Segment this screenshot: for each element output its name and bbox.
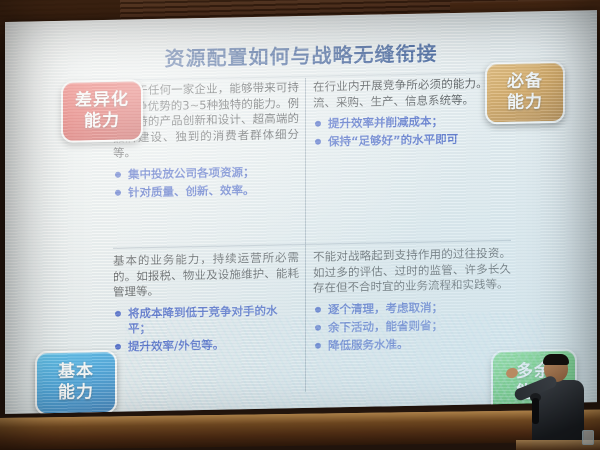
presenter	[516, 352, 600, 450]
water-glass	[582, 430, 594, 445]
badge-essential-capability: 必备 能力	[485, 61, 565, 125]
quadrant-bullet-list: 将成本降到低于竞争对手的水平； 提升效率/外包等。	[113, 303, 299, 355]
bullet-text: 提升效率/外包等。	[128, 337, 224, 353]
bullet-dot-icon	[315, 324, 321, 330]
bullet-text: 针对质量、创新、效率。	[128, 182, 255, 199]
list-item: 降低服务水准。	[313, 334, 511, 353]
bullet-text: 余下活动，能省则省；	[328, 318, 443, 334]
quadrant-bullet-list: 提升效率并削减成本； 保持“足够好”的水平即可	[313, 113, 511, 150]
quadrant-essential-capability: 在行业内开展竞争所必须的能力。如物流、采购、生产、信息系统等。 提升效率并削减成…	[313, 76, 511, 242]
badge-line-1: 基本	[58, 361, 94, 383]
quadrant-paragraph: 不能对战略起到支持作用的过往投资。如过多的评估、过时的监管、许多长久存在但不合时…	[313, 246, 511, 296]
badge-line-2: 能力	[58, 382, 94, 404]
bullet-dot-icon	[315, 139, 321, 145]
bullet-text: 提升效率并削减成本；	[328, 114, 443, 130]
bullet-text: 集中投放公司各项资源；	[128, 164, 255, 181]
bullet-text: 逐个清理，考虑取消；	[328, 300, 443, 316]
bullet-text: 保持“足够好”的水平即可	[328, 132, 458, 149]
quadrant-bullet-list: 逐个清理，考虑取消； 余下活动，能省则省； 降低服务水准。	[313, 298, 511, 353]
quadrant-basic-capability: 基本的业务能力，持续运营所必需的。如报税、物业及设施维护、能耗管理等。 将成本降…	[113, 250, 299, 396]
list-item: 将成本降到低于竞争对手的水平；	[113, 303, 299, 337]
matrix-vertical-divider	[305, 78, 306, 392]
bullet-text: 将成本降到低于竞争对手的水平；	[128, 303, 278, 335]
list-item: 提升效率/外包等。	[113, 336, 299, 355]
bullet-dot-icon	[315, 342, 321, 348]
badge-line-1: 必备	[507, 71, 543, 93]
bullet-dot-icon	[315, 121, 321, 127]
presenter-hair	[543, 354, 569, 365]
quadrant-bullet-list: 集中投放公司各项资源； 针对质量、创新、效率。	[113, 164, 299, 201]
quadrant-surplus-capability: 不能对战略起到支持作用的过往投资。如过多的评估、过时的监管、许多长久存在但不合时…	[313, 246, 511, 392]
microphone-icon	[532, 398, 539, 424]
list-item: 针对质量、创新、效率。	[113, 182, 299, 201]
stage-front-panel	[0, 410, 600, 450]
list-item: 集中投放公司各项资源；	[113, 164, 299, 183]
badge-line-2: 能力	[84, 111, 120, 133]
bullet-dot-icon	[115, 171, 121, 177]
bullet-dot-icon	[115, 343, 121, 349]
quadrant-paragraph: 在行业内开展竞争所必须的能力。如物流、采购、生产、信息系统等。	[313, 76, 511, 111]
list-item: 提升效率并削减成本；	[313, 113, 511, 132]
projection-screen: 资源配置如何与战略无缝衔接 有别于任何一家企业，能够带来可持续竞争优势的3~5种…	[5, 10, 597, 414]
badge-line-2: 能力	[507, 92, 543, 114]
badge-line-1: 差异化	[75, 90, 129, 112]
list-item: 余下活动，能省则省；	[313, 316, 511, 335]
list-item: 保持“足够好”的水平即可	[313, 131, 511, 150]
bullet-text: 降低服务水准。	[328, 336, 409, 352]
badge-basic-capability: 基本 能力	[35, 350, 117, 414]
list-item: 逐个清理，考虑取消；	[313, 298, 511, 317]
bullet-dot-icon	[315, 306, 321, 312]
bullet-dot-icon	[115, 310, 121, 316]
conference-room-scene: 资源配置如何与战略无缝衔接 有别于任何一家企业，能够带来可持续竞争优势的3~5种…	[0, 0, 600, 450]
quadrant-paragraph: 基本的业务能力，持续运营所必需的。如报税、物业及设施维护、能耗管理等。	[113, 250, 299, 300]
capability-matrix: 有别于任何一家企业，能够带来可持续竞争优势的3~5种独特的能力。例如独特的产品创…	[113, 72, 511, 398]
bullet-dot-icon	[115, 189, 121, 195]
badge-differentiating-capability: 差异化 能力	[61, 79, 143, 143]
